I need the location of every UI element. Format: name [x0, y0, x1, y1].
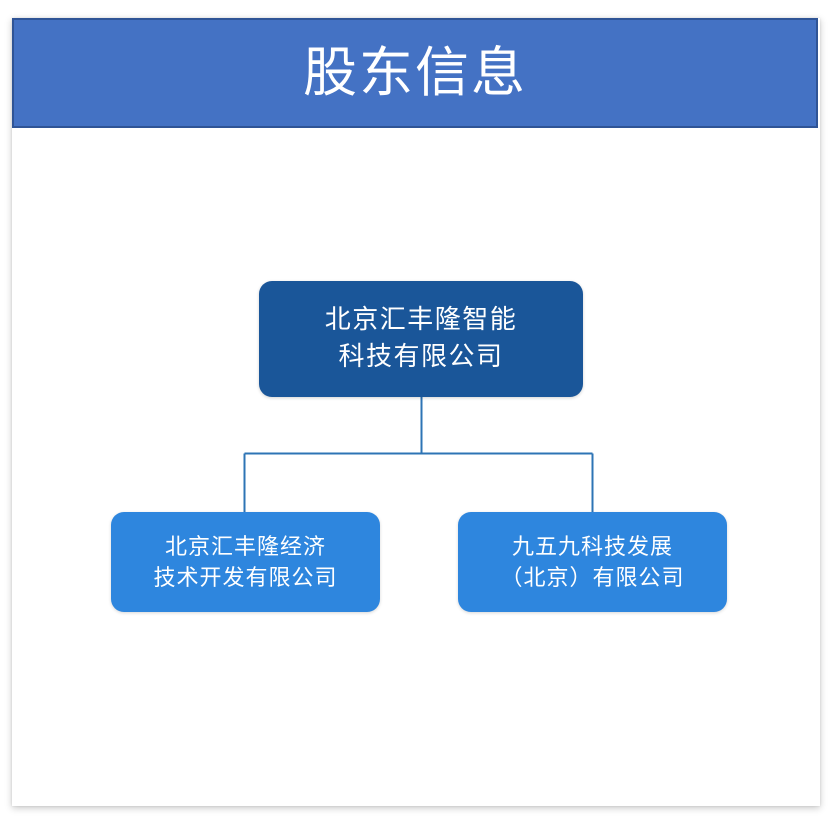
org-chart: 北京汇丰隆智能 科技有限公司 北京汇丰隆经济 技术开发有限公司 九五九科技发展 …: [12, 130, 818, 804]
org-node-root-line-2: 科技有限公司: [338, 339, 503, 376]
shareholder-info-card: 股东信息 北京汇丰隆智能 科技有限公司 北京汇丰隆经济 技术开发有限公司: [12, 18, 820, 806]
org-node-root-line-1: 北京汇丰隆智能: [325, 302, 518, 339]
org-chart-connectors: [12, 130, 818, 804]
screenshot-canvas: 股东信息 北京汇丰隆智能 科技有限公司 北京汇丰隆经济 技术开发有限公司: [0, 0, 836, 822]
org-node-root[interactable]: 北京汇丰隆智能 科技有限公司: [259, 281, 583, 397]
card-header: 股东信息: [12, 18, 818, 128]
org-node-child-left-line-1: 北京汇丰隆经济: [165, 531, 326, 562]
org-node-child-right-line-2: （北京）有限公司: [500, 562, 684, 593]
page-title: 股东信息: [303, 46, 527, 100]
org-node-child-left-line-2: 技术开发有限公司: [153, 562, 337, 593]
org-node-child-left[interactable]: 北京汇丰隆经济 技术开发有限公司: [111, 512, 380, 612]
org-node-child-right[interactable]: 九五九科技发展 （北京）有限公司: [458, 512, 727, 612]
org-node-child-right-line-1: 九五九科技发展: [512, 531, 673, 562]
